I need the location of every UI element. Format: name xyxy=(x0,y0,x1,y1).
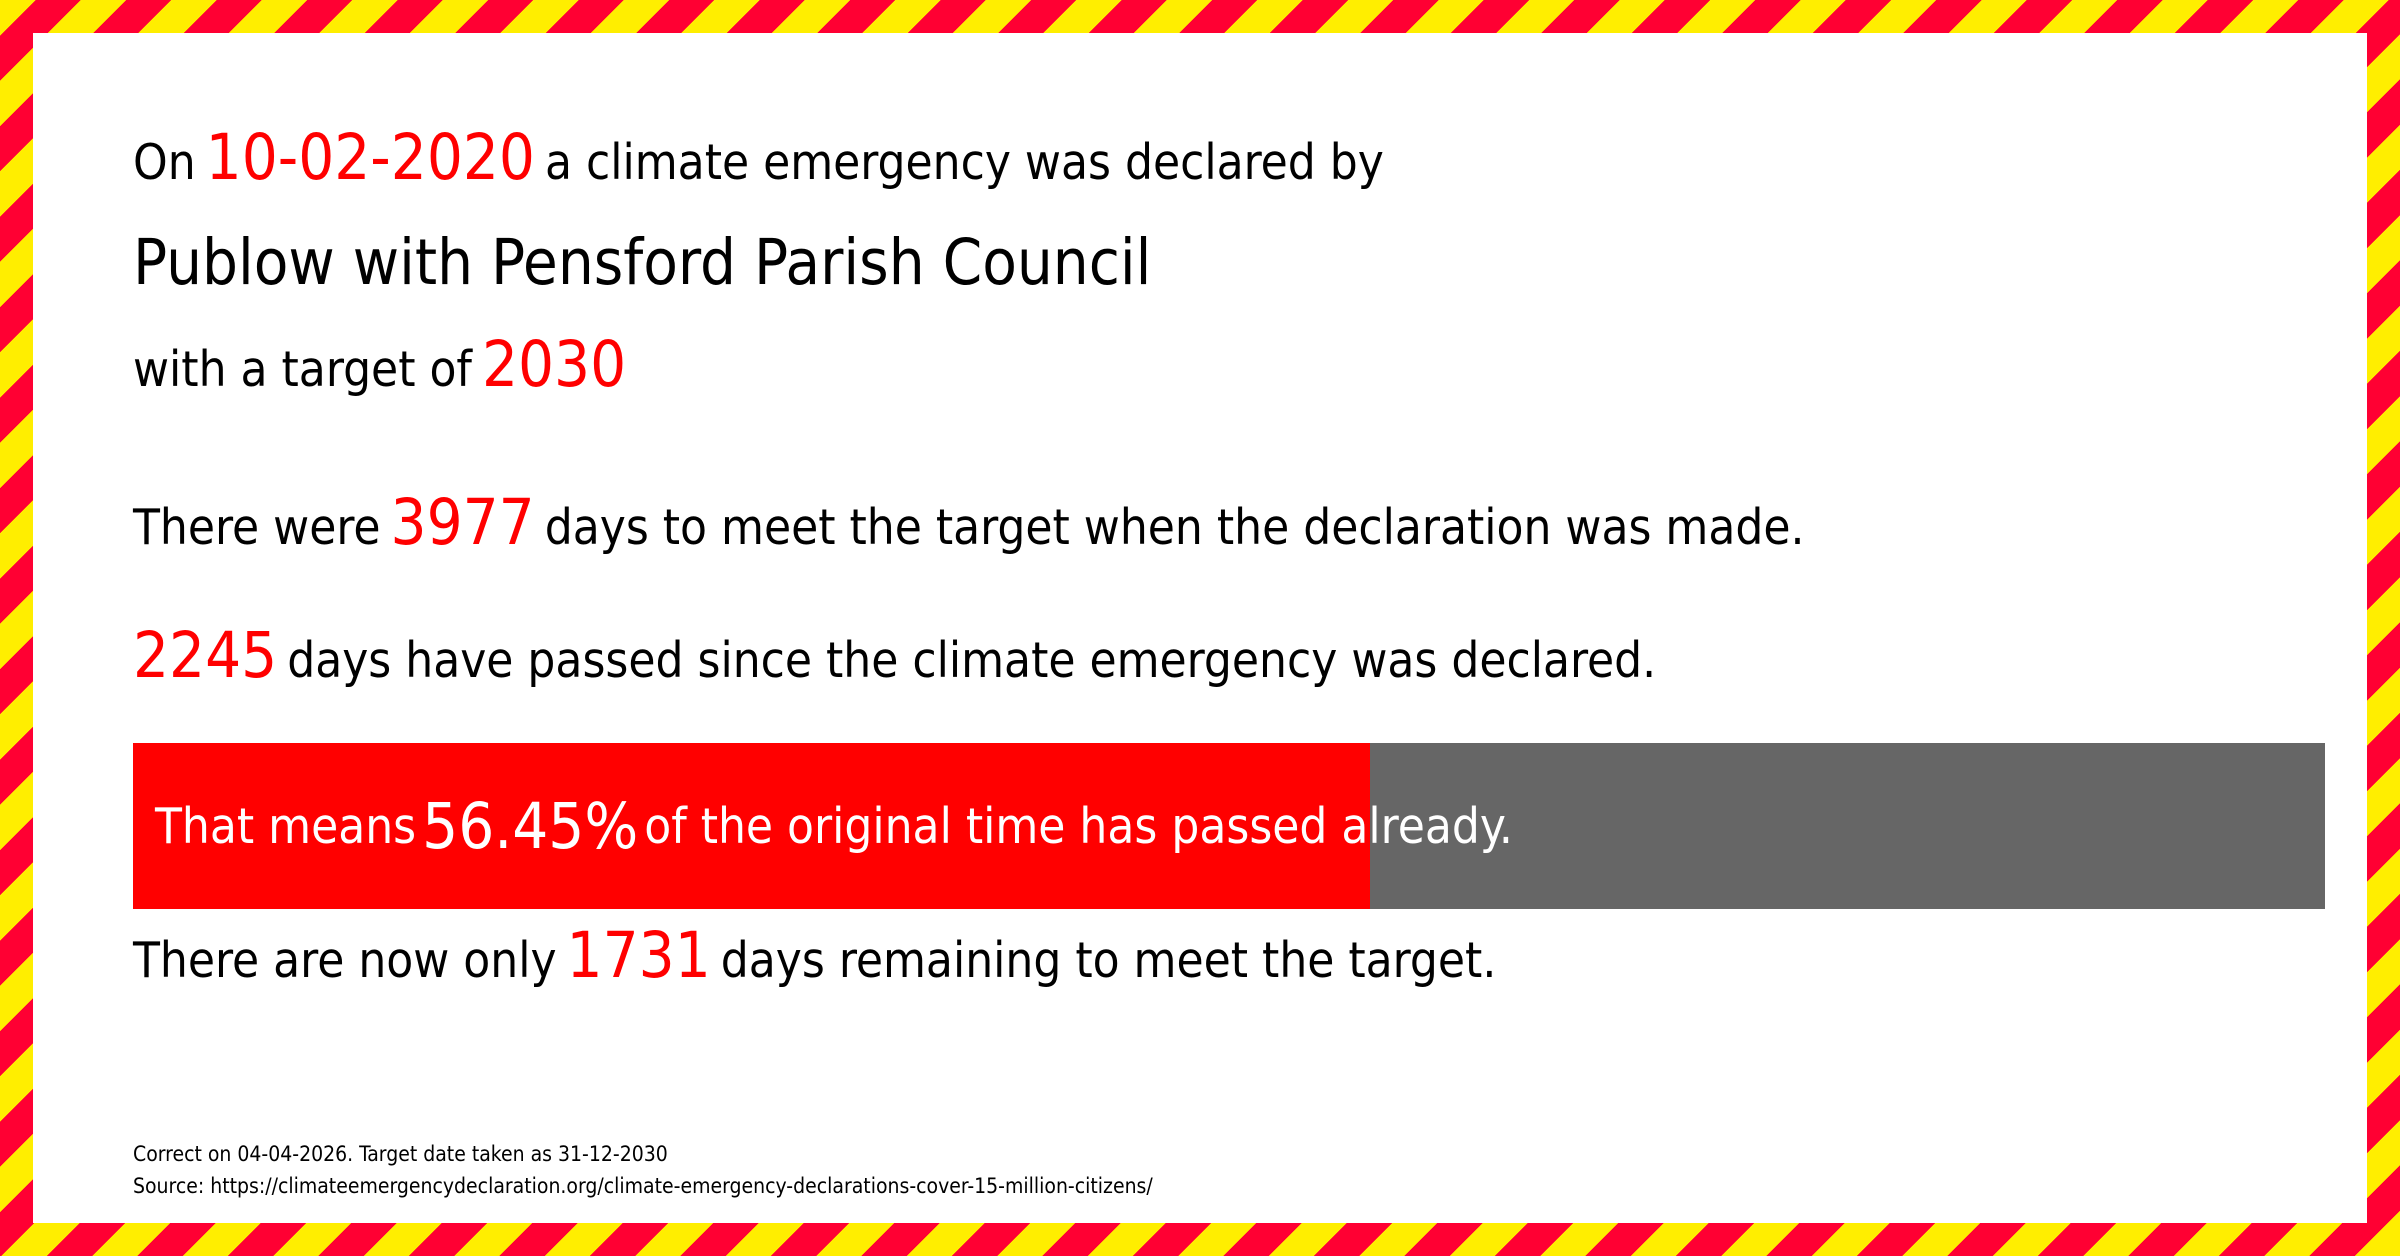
target-line: with a target of2030 xyxy=(133,335,626,400)
original-days-line: There were3977days to meet the target wh… xyxy=(133,493,1805,558)
poster-card: On10-02-2020a climate emergency was decl… xyxy=(33,33,2367,1223)
progress-percent-value: 56.45% xyxy=(416,790,644,863)
remaining-prefix: There are now only xyxy=(133,932,557,989)
remaining-days-line: There are now only1731days remaining to … xyxy=(133,926,1496,991)
remaining-suffix: days remaining to meet the target. xyxy=(721,932,1497,989)
progress-prefix: That means xyxy=(155,798,416,855)
original-suffix: days to meet the target when the declara… xyxy=(545,499,1805,556)
target-prefix: with a target of xyxy=(133,341,472,398)
declaration-headline: On10-02-2020a climate emergency was decl… xyxy=(133,128,1384,193)
original-prefix: There were xyxy=(133,499,381,556)
passed-suffix: days have passed since the climate emerg… xyxy=(287,632,1656,689)
target-year: 2030 xyxy=(482,328,626,401)
original-days-value: 3977 xyxy=(391,486,535,559)
declaration-prefix: On xyxy=(133,134,196,191)
remaining-days-value: 1731 xyxy=(567,919,711,992)
progress-suffix: of the original time has passed already. xyxy=(644,798,1513,855)
passed-days-value: 2245 xyxy=(133,619,277,692)
footnote-correct-on: Correct on 04-04-2026. Target date taken… xyxy=(133,1138,1153,1170)
declaration-date: 10-02-2020 xyxy=(206,121,535,194)
passed-days-line: 2245days have passed since the climate e… xyxy=(133,626,1656,691)
progress-bar-label: That means56.45%of the original time has… xyxy=(155,743,1513,909)
council-name: Publow with Pensford Parish Council xyxy=(133,225,1151,301)
time-elapsed-progress-bar: That means56.45%of the original time has… xyxy=(133,743,2325,909)
footnote-source: Source: https://climateemergencydeclarat… xyxy=(133,1170,1153,1202)
poster-frame: On10-02-2020a climate emergency was decl… xyxy=(0,0,2400,1256)
declaration-suffix: a climate emergency was declared by xyxy=(545,134,1384,191)
footnotes: Correct on 04-04-2026. Target date taken… xyxy=(133,1138,1153,1202)
